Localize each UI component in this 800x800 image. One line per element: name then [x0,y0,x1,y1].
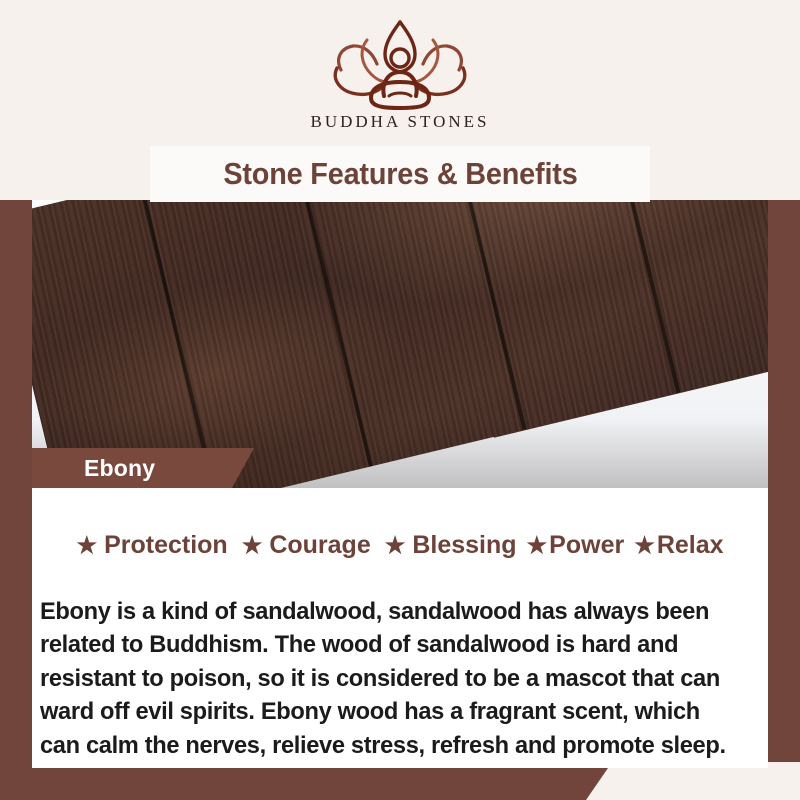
benefit-label: Power [549,531,624,560]
benefit-label: Protection [104,531,228,560]
brand-name: BUDDHA STONES [311,112,490,132]
star-icon: ★ [527,534,548,557]
product-label: Ebony [84,455,155,482]
benefit-label: Blessing [412,531,516,560]
benefit-item-1: ★ Courage [242,531,371,560]
lotus-meditation-figure-icon [315,18,485,110]
benefit-item-2: ★ Blessing [385,531,517,560]
product-label-banner: Ebony [32,448,254,488]
benefit-item-4: ★ Relax [634,531,723,560]
benefit-label: Courage [269,531,370,560]
brand-logo: BUDDHA STONES [0,18,800,132]
star-icon: ★ [634,534,655,557]
benefit-label: Relax [657,531,724,560]
benefit-item-0: ★ Protection [76,531,227,560]
star-icon: ★ [76,534,97,557]
description-paragraph: Ebony is a kind of sandalwood, sandalwoo… [40,595,731,763]
infographic-page: BUDDHA STONES Stone Features & Benefits … [0,0,800,800]
star-icon: ★ [242,534,263,557]
ebony-wood-planks-photo [32,200,768,488]
benefits-list: ★ Protection ★ Courage ★ Blessing ★ Powe… [32,524,768,566]
title-banner: Stone Features & Benefits [150,146,650,202]
star-icon: ★ [385,534,406,557]
frame-band-left [0,200,32,800]
frame-band-bottom [0,768,608,800]
page-title: Stone Features & Benefits [223,156,577,192]
benefit-item-3: ★ Power [527,531,625,560]
